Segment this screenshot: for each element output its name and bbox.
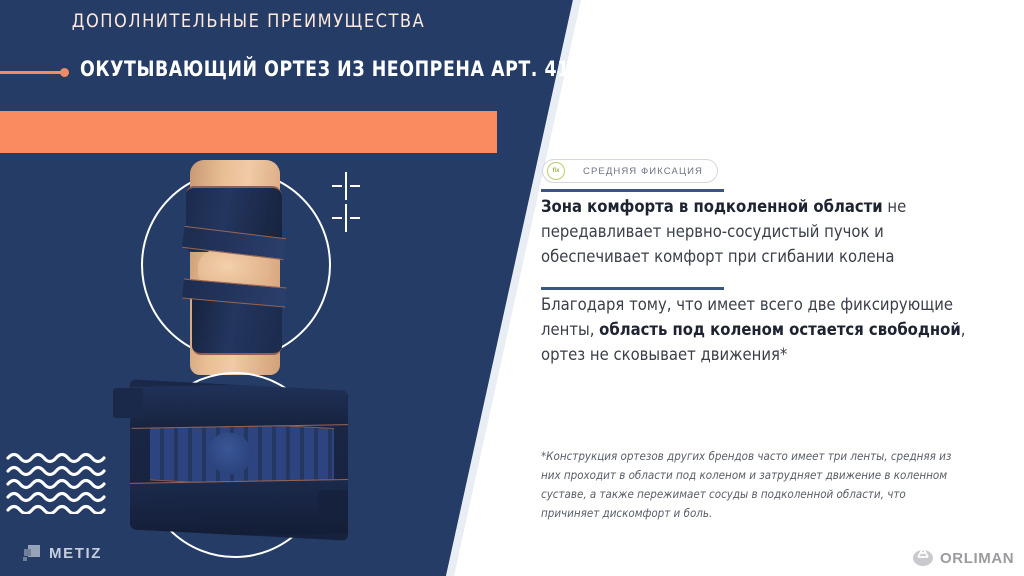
orliman-mark-icon	[912, 545, 934, 572]
crosshair-marker-icon	[332, 172, 360, 200]
wave-pattern-decoration	[6, 452, 116, 514]
knee-brace-strap-top	[130, 383, 348, 429]
benefit-2-bold-mid: область под коленом остается свободной	[599, 320, 961, 339]
knee-brace-opened-flat	[130, 379, 348, 540]
crosshair-marker-icon	[332, 204, 360, 232]
benefit-paragraph-2: Благодаря тому, что имеет всего две фикс…	[541, 292, 981, 367]
benefit-1-bold-lead: Зона комфорта в подколенной области	[541, 197, 883, 216]
status-badge: fix СРЕДНЯЯ ФИКСАЦИЯ	[542, 159, 718, 183]
status-badge-label: СРЕДНЯЯ ФИКСАЦИЯ	[583, 166, 703, 177]
page-title: ОКУТЫВАЮЩИЙ ОРТЕЗ ИЗ НЕОПРЕНА АРТ. 4119	[80, 57, 512, 81]
metiz-mark-icon	[22, 543, 42, 563]
fixation-level-icon: fix	[547, 162, 565, 180]
metiz-logo: METIZ	[22, 543, 102, 563]
accent-line	[0, 71, 62, 74]
metiz-wordmark: METIZ	[49, 545, 102, 562]
subtitle-banner	[0, 111, 497, 153]
section-rule	[541, 287, 724, 290]
knee-brace-velcro-tab-left	[113, 388, 143, 418]
benefit-paragraph-1: Зона комфорта в подколенной области не п…	[541, 194, 981, 269]
accent-dot	[60, 68, 69, 77]
knee-brace-strap-bottom	[130, 479, 348, 537]
slide-root: ОКУТЫВАЮЩИЙ ОРТЕЗ ИЗ НЕОПРЕНА АРТ. 4119 …	[0, 0, 1024, 576]
footnote-text: *Конструкция ортезов других брендов част…	[541, 447, 961, 523]
subtitle-banner-label: ДОПОЛНИТЕЛЬНЫЕ ПРЕИМУЩЕСТВА	[12, 0, 484, 42]
orliman-wordmark: ORLIMAN	[940, 550, 1014, 567]
knee-brace-velcro-tab-right	[318, 490, 348, 516]
section-rule	[541, 189, 724, 192]
orliman-logo: ORLIMAN	[912, 545, 1014, 572]
